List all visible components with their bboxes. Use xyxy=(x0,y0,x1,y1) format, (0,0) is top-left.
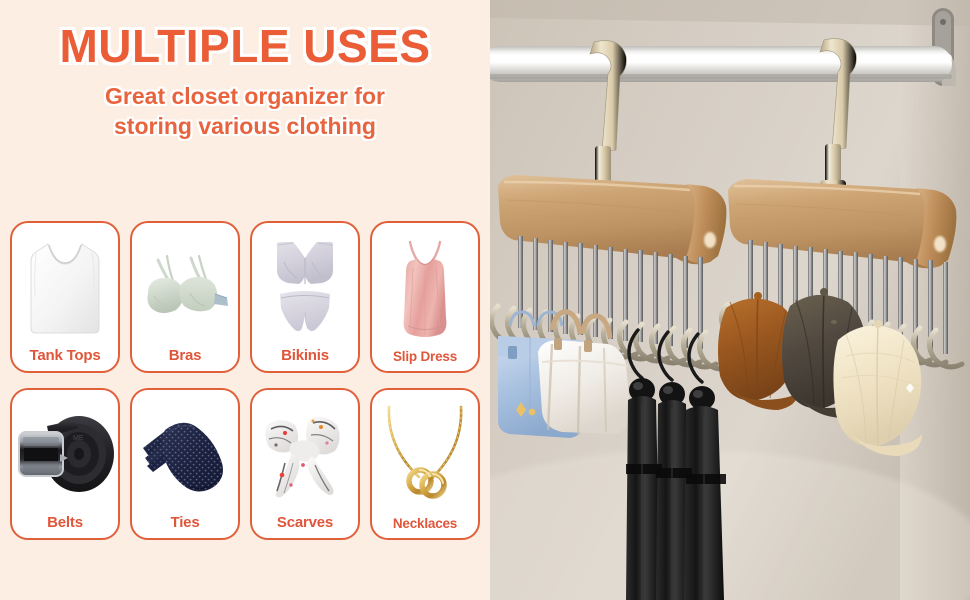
category-label: Bras xyxy=(169,347,202,371)
category-card-scarves[interactable]: Scarves xyxy=(250,388,360,540)
category-card-ties[interactable]: Ties xyxy=(130,388,240,540)
product-banner: MULTIPLE USES Great closet organizer for… xyxy=(0,0,970,600)
page-title: MULTIPLE USES xyxy=(0,22,490,70)
scarf-icon xyxy=(252,390,358,514)
left-info-panel: MULTIPLE USES Great closet organizer for… xyxy=(0,0,490,600)
bikini-icon xyxy=(252,223,358,347)
category-card-necklaces[interactable]: Necklaces xyxy=(370,388,480,540)
page-subtitle: Great closet organizer for storing vario… xyxy=(0,82,490,141)
closet-scene xyxy=(490,0,970,600)
headline-block: MULTIPLE USES Great closet organizer for… xyxy=(0,0,490,141)
category-grid: Tank Tops xyxy=(10,221,480,540)
belt-icon: ME xyxy=(12,390,118,514)
necklace-icon xyxy=(372,390,478,516)
category-card-slip-dress[interactable]: Slip Dress xyxy=(370,221,480,373)
category-card-bikinis[interactable]: Bikinis xyxy=(250,221,360,373)
category-label: Belts xyxy=(47,514,83,538)
bra-icon xyxy=(132,223,238,347)
category-label: Scarves xyxy=(277,514,333,538)
category-label: Tank Tops xyxy=(30,347,101,371)
category-card-bras[interactable]: Bras xyxy=(130,221,240,373)
category-card-tank-tops[interactable]: Tank Tops xyxy=(10,221,120,373)
category-label: Slip Dress xyxy=(393,349,457,371)
slip-dress-icon xyxy=(372,223,478,349)
subtitle-line-1: Great closet organizer for xyxy=(0,82,490,111)
category-label: Bikinis xyxy=(281,347,329,371)
tank-top-icon xyxy=(12,223,118,347)
tie-icon xyxy=(132,390,238,514)
subtitle-line-2: storing various clothing xyxy=(0,112,490,141)
category-label: Ties xyxy=(171,514,200,538)
category-card-belts[interactable]: ME Belts xyxy=(10,388,120,540)
product-photo xyxy=(490,0,970,600)
svg-text:ME: ME xyxy=(73,435,84,442)
category-label: Necklaces xyxy=(393,516,457,538)
